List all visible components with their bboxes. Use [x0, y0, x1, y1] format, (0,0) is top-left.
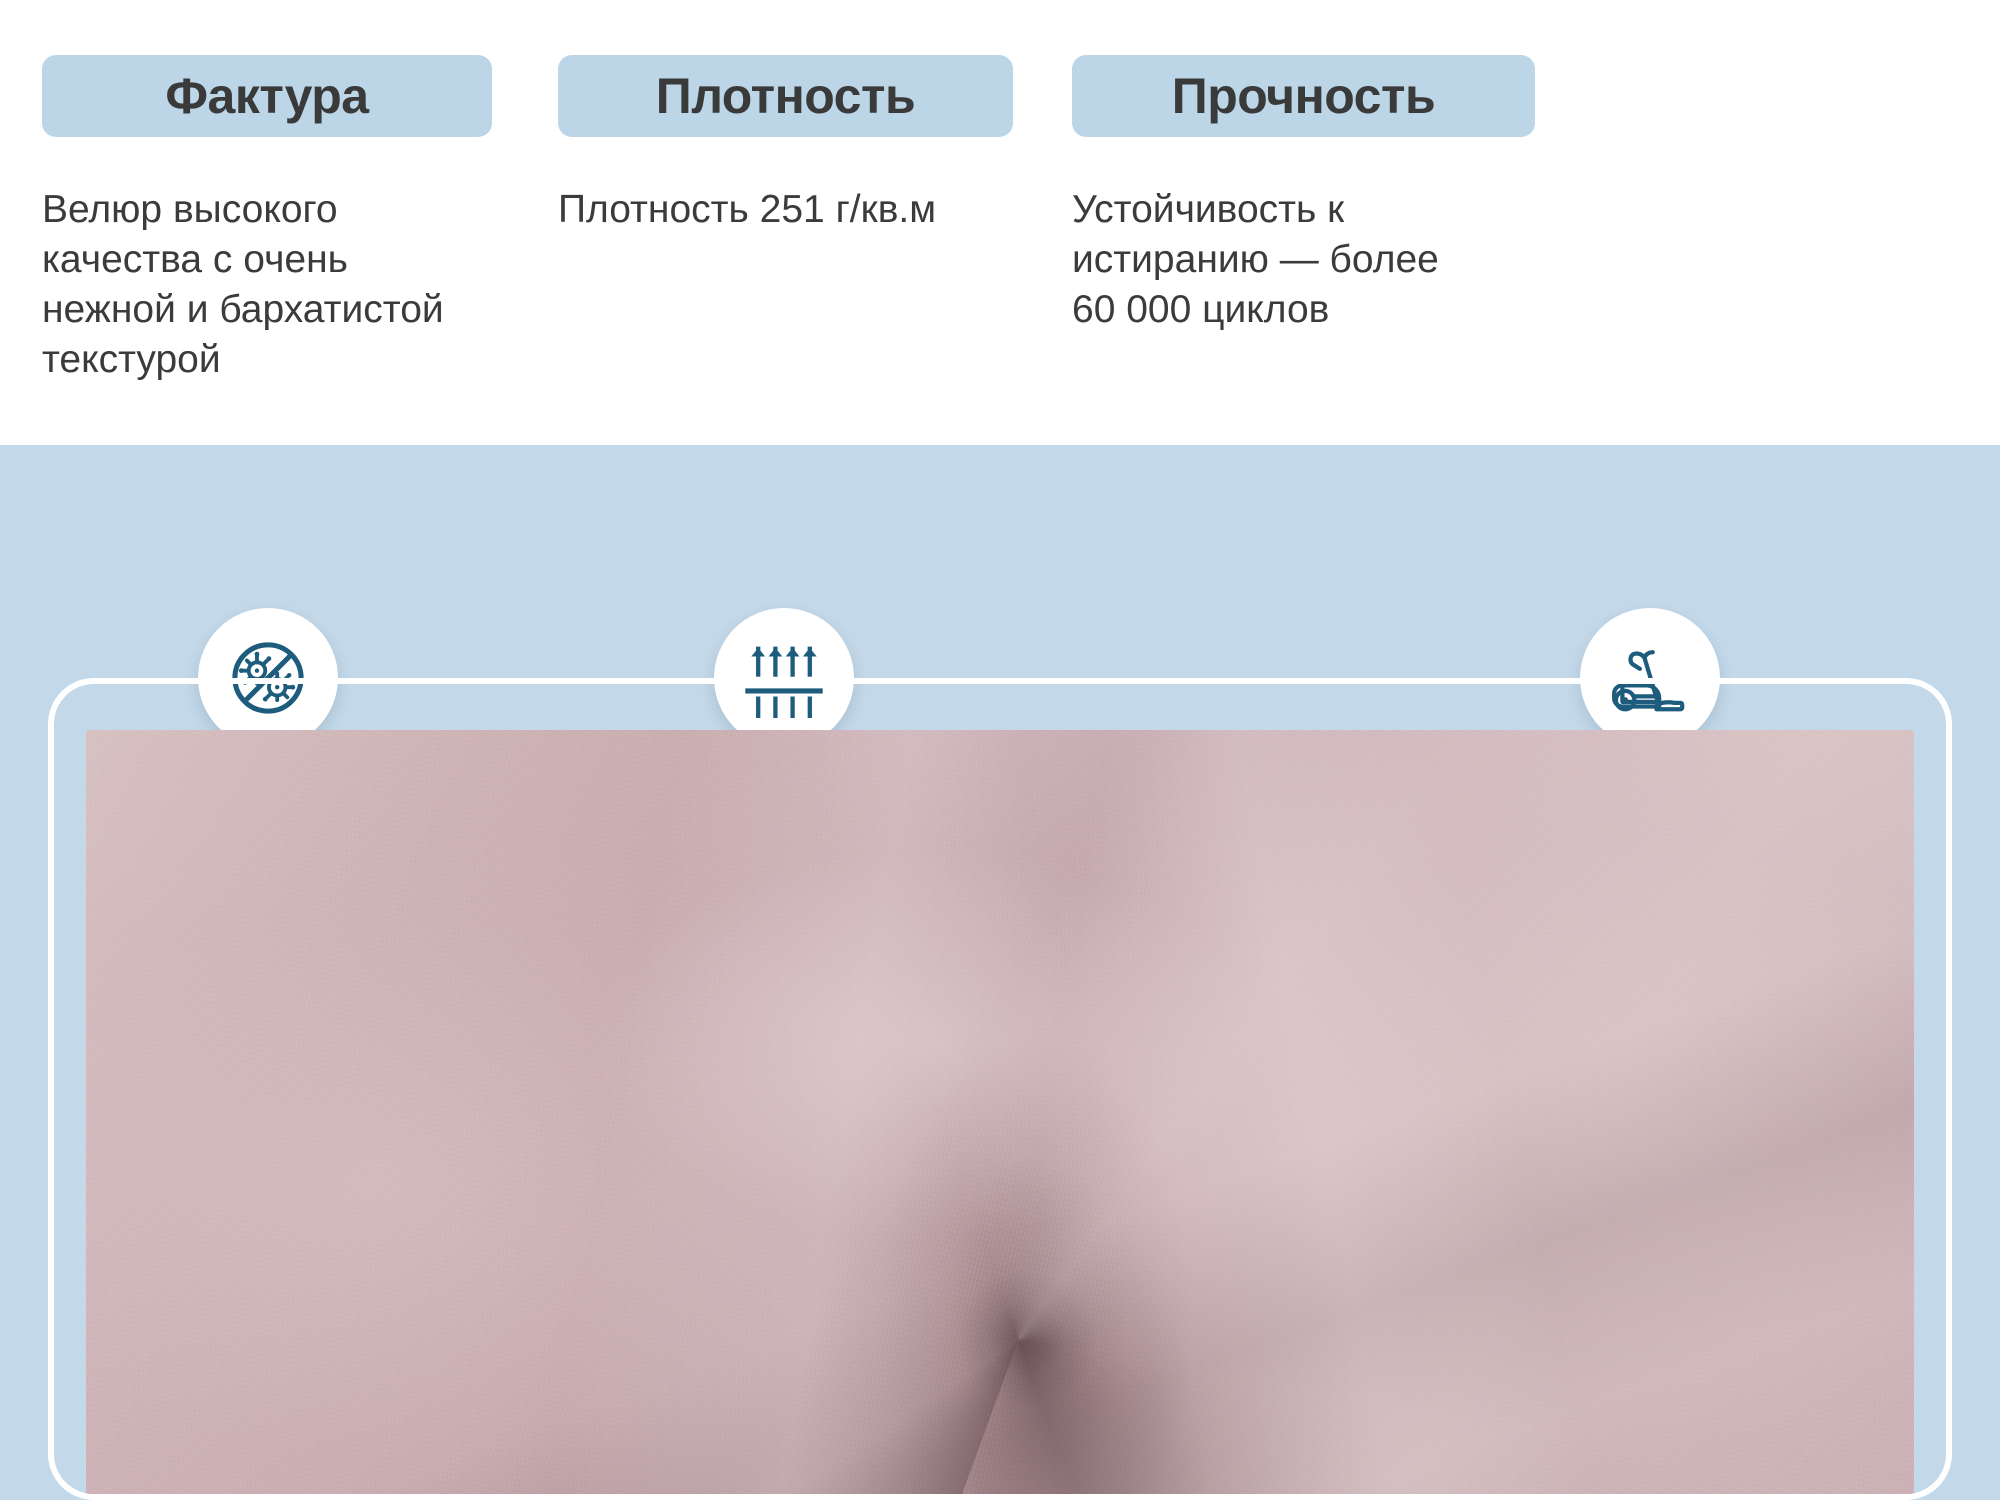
spec-column-faktura: Фактура Велюр высокого качества с очень … [42, 55, 542, 385]
spec-chip-plotnost: Плотность [558, 55, 1013, 137]
spec-chip-faktura: Фактура [42, 55, 492, 137]
spec-column-prochnost: Прочность Устойчивость к истиранию — бол… [1072, 55, 1535, 335]
spec-chip-prochnost: Прочность [1072, 55, 1535, 137]
fabric-photo [86, 730, 1914, 1500]
spec-column-plotnost: Плотность Плотность 251 г/кв.м [558, 55, 1013, 235]
spec-body-plotnost: Плотность 251 г/кв.м [558, 185, 1013, 235]
spec-title-prochnost: Прочность [1172, 67, 1435, 125]
specs-section: Фактура Велюр высокого качества с очень … [0, 0, 2000, 445]
spec-body-prochnost: Устойчивость к истиранию — более 60 000 … [1072, 185, 1535, 335]
spec-title-faktura: Фактура [165, 67, 368, 125]
spec-body-faktura: Велюр высокого качества с очень нежной и… [42, 185, 542, 385]
fabric-photo-card [48, 678, 1952, 1500]
spec-title-plotnost: Плотность [656, 67, 915, 125]
fabric-texture [86, 730, 1914, 1500]
